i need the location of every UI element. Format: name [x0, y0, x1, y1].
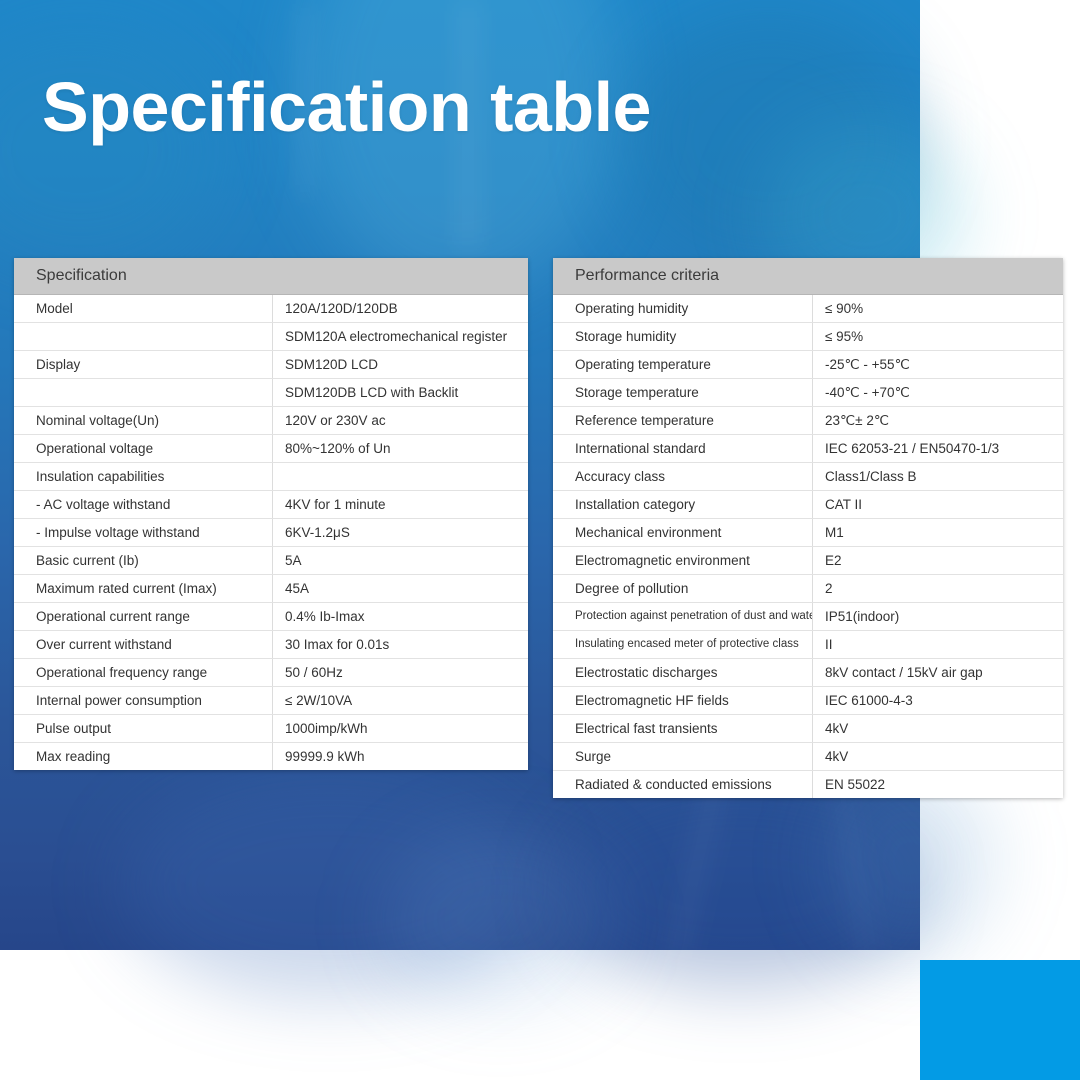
table-row: Mechanical environmentM1: [553, 519, 1063, 547]
table-row: Insulation capabilities: [14, 463, 528, 491]
table-cell-value: [272, 463, 528, 490]
table-row: Max reading99999.9 kWh: [14, 743, 528, 770]
table-row: Model120A/120D/120DB: [14, 295, 528, 323]
table-cell-label: [14, 323, 272, 350]
specification-table-body: Model120A/120D/120DBSDM120A electromecha…: [14, 295, 528, 770]
table-row: Protection against penetration of dust a…: [553, 603, 1063, 631]
table-cell-value: 30 Imax for 0.01s: [272, 631, 528, 658]
table-cell-value: 80%~120% of Un: [272, 435, 528, 462]
table-row: Storage humidity≤ 95%: [553, 323, 1063, 351]
table-cell-label: Insulation capabilities: [14, 463, 272, 490]
table-cell-value: SDM120D LCD: [272, 351, 528, 378]
table-cell-label: Storage humidity: [553, 323, 812, 350]
table-row: Electrostatic discharges8kV contact / 15…: [553, 659, 1063, 687]
table-cell-label: Operational frequency range: [14, 659, 272, 686]
table-row: Radiated & conducted emissionsEN 55022: [553, 771, 1063, 798]
table-cell-label: Degree of pollution: [553, 575, 812, 602]
table-cell-value: 0.4% Ib-Imax: [272, 603, 528, 630]
table-cell-label: Basic current (Ib): [14, 547, 272, 574]
table-cell-label: Accuracy class: [553, 463, 812, 490]
table-cell-value: ≤ 95%: [812, 323, 1063, 350]
table-cell-value: 4kV: [812, 715, 1063, 742]
background-blur-blob: [560, 790, 920, 990]
table-cell-label: Insulating encased meter of protective c…: [553, 631, 812, 658]
table-cell-label: Maximum rated current (Imax): [14, 575, 272, 602]
table-cell-value: 4kV: [812, 743, 1063, 770]
background-blur-blob: [120, 770, 540, 1000]
table-cell-value: 50 / 60Hz: [272, 659, 528, 686]
table-cell-value: M1: [812, 519, 1063, 546]
table-cell-label: Model: [14, 295, 272, 322]
table-row: SDM120A electromechanical register: [14, 323, 528, 351]
table-cell-value: 5A: [272, 547, 528, 574]
table-cell-label: Radiated & conducted emissions: [553, 771, 812, 798]
table-row: Pulse output1000imp/kWh: [14, 715, 528, 743]
table-cell-label: Electrostatic discharges: [553, 659, 812, 686]
table-cell-label: Internal power consumption: [14, 687, 272, 714]
table-cell-value: 1000imp/kWh: [272, 715, 528, 742]
table-row: - Impulse voltage withstand6KV-1.2μS: [14, 519, 528, 547]
table-row: Storage temperature-40℃ - +70℃: [553, 379, 1063, 407]
table-cell-label: Reference temperature: [553, 407, 812, 434]
table-cell-label: Operating temperature: [553, 351, 812, 378]
table-cell-label: Storage temperature: [553, 379, 812, 406]
table-cell-value: Class1/Class B: [812, 463, 1063, 490]
table-cell-value: IEC 62053-21 / EN50470-1/3: [812, 435, 1063, 462]
table-row: Degree of pollution2: [553, 575, 1063, 603]
table-row: SDM120DB LCD with Backlit: [14, 379, 528, 407]
table-cell-value: 45A: [272, 575, 528, 602]
background-light-streak: [837, 790, 873, 959]
table-cell-label: Display: [14, 351, 272, 378]
table-row: Nominal voltage(Un)120V or 230V ac: [14, 407, 528, 435]
table-cell-value: -25℃ - +55℃: [812, 351, 1063, 378]
table-cell-label: Electromagnetic HF fields: [553, 687, 812, 714]
background-blur-blob: [0, 30, 220, 270]
table-row: Operating humidity≤ 90%: [553, 295, 1063, 323]
table-row: Electromagnetic HF fieldsIEC 61000-4-3: [553, 687, 1063, 715]
background-blur-blob: [380, 830, 620, 1010]
table-cell-value: 2: [812, 575, 1063, 602]
table-cell-label: Operating humidity: [553, 295, 812, 322]
table-row: Maximum rated current (Imax)45A: [14, 575, 528, 603]
performance-criteria-table: Performance criteria Operating humidity≤…: [553, 258, 1063, 798]
table-cell-label: Nominal voltage(Un): [14, 407, 272, 434]
table-row: Over current withstand30 Imax for 0.01s: [14, 631, 528, 659]
table-cell-value: 6KV-1.2μS: [272, 519, 528, 546]
specification-table: Specification Model120A/120D/120DBSDM120…: [14, 258, 528, 770]
table-cell-value: IP51(indoor): [812, 603, 1063, 630]
table-cell-value: II: [812, 631, 1063, 658]
table-cell-value: ≤ 2W/10VA: [272, 687, 528, 714]
table-cell-label: Over current withstand: [14, 631, 272, 658]
table-row: Electrical fast transients4kV: [553, 715, 1063, 743]
specification-table-header: Specification: [14, 258, 528, 295]
table-cell-value: EN 55022: [812, 771, 1063, 798]
accent-square: [920, 960, 1080, 1080]
table-cell-label: - AC voltage withstand: [14, 491, 272, 518]
table-row: Basic current (Ib)5A: [14, 547, 528, 575]
table-cell-label: Mechanical environment: [553, 519, 812, 546]
performance-criteria-table-header: Performance criteria: [553, 258, 1063, 295]
table-cell-value: 99999.9 kWh: [272, 743, 528, 770]
table-cell-value: 8kV contact / 15kV air gap: [812, 659, 1063, 686]
table-cell-label: Pulse output: [14, 715, 272, 742]
page-title: Specification table: [42, 72, 651, 142]
table-row: Accuracy classClass1/Class B: [553, 463, 1063, 491]
table-cell-value: IEC 61000-4-3: [812, 687, 1063, 714]
table-cell-label: Operational current range: [14, 603, 272, 630]
table-row: - AC voltage withstand4KV for 1 minute: [14, 491, 528, 519]
performance-criteria-table-body: Operating humidity≤ 90%Storage humidity≤…: [553, 295, 1063, 798]
table-cell-value: ≤ 90%: [812, 295, 1063, 322]
table-row: Operational voltage80%~120% of Un: [14, 435, 528, 463]
table-cell-value: 4KV for 1 minute: [272, 491, 528, 518]
table-cell-label: Max reading: [14, 743, 272, 770]
table-row: Electromagnetic environmentE2: [553, 547, 1063, 575]
table-cell-label: Installation category: [553, 491, 812, 518]
table-cell-label: Electrical fast transients: [553, 715, 812, 742]
table-row: Internal power consumption≤ 2W/10VA: [14, 687, 528, 715]
table-cell-label: - Impulse voltage withstand: [14, 519, 272, 546]
table-row: Operational current range0.4% Ib-Imax: [14, 603, 528, 631]
table-cell-label: Operational voltage: [14, 435, 272, 462]
table-cell-label: Protection against penetration of dust a…: [553, 603, 812, 630]
table-row: Insulating encased meter of protective c…: [553, 631, 1063, 659]
table-cell-value: SDM120DB LCD with Backlit: [272, 379, 528, 406]
table-cell-label: Electromagnetic environment: [553, 547, 812, 574]
table-cell-value: SDM120A electromechanical register: [272, 323, 528, 350]
table-cell-value: 23℃± 2℃: [812, 407, 1063, 434]
table-cell-label: International standard: [553, 435, 812, 462]
table-cell-value: 120A/120D/120DB: [272, 295, 528, 322]
table-cell-label: [14, 379, 272, 406]
table-cell-value: E2: [812, 547, 1063, 574]
table-row: Surge4kV: [553, 743, 1063, 771]
table-row: International standardIEC 62053-21 / EN5…: [553, 435, 1063, 463]
background-blur-blob: [620, 10, 920, 270]
table-cell-value: -40℃ - +70℃: [812, 379, 1063, 406]
background-blur-blob: [300, 0, 620, 300]
table-row: Installation categoryCAT II: [553, 491, 1063, 519]
table-row: DisplaySDM120D LCD: [14, 351, 528, 379]
table-cell-value: CAT II: [812, 491, 1063, 518]
table-row: Operating temperature-25℃ - +55℃: [553, 351, 1063, 379]
table-cell-label: Surge: [553, 743, 812, 770]
table-cell-value: 120V or 230V ac: [272, 407, 528, 434]
table-row: Operational frequency range50 / 60Hz: [14, 659, 528, 687]
table-row: Reference temperature23℃± 2℃: [553, 407, 1063, 435]
